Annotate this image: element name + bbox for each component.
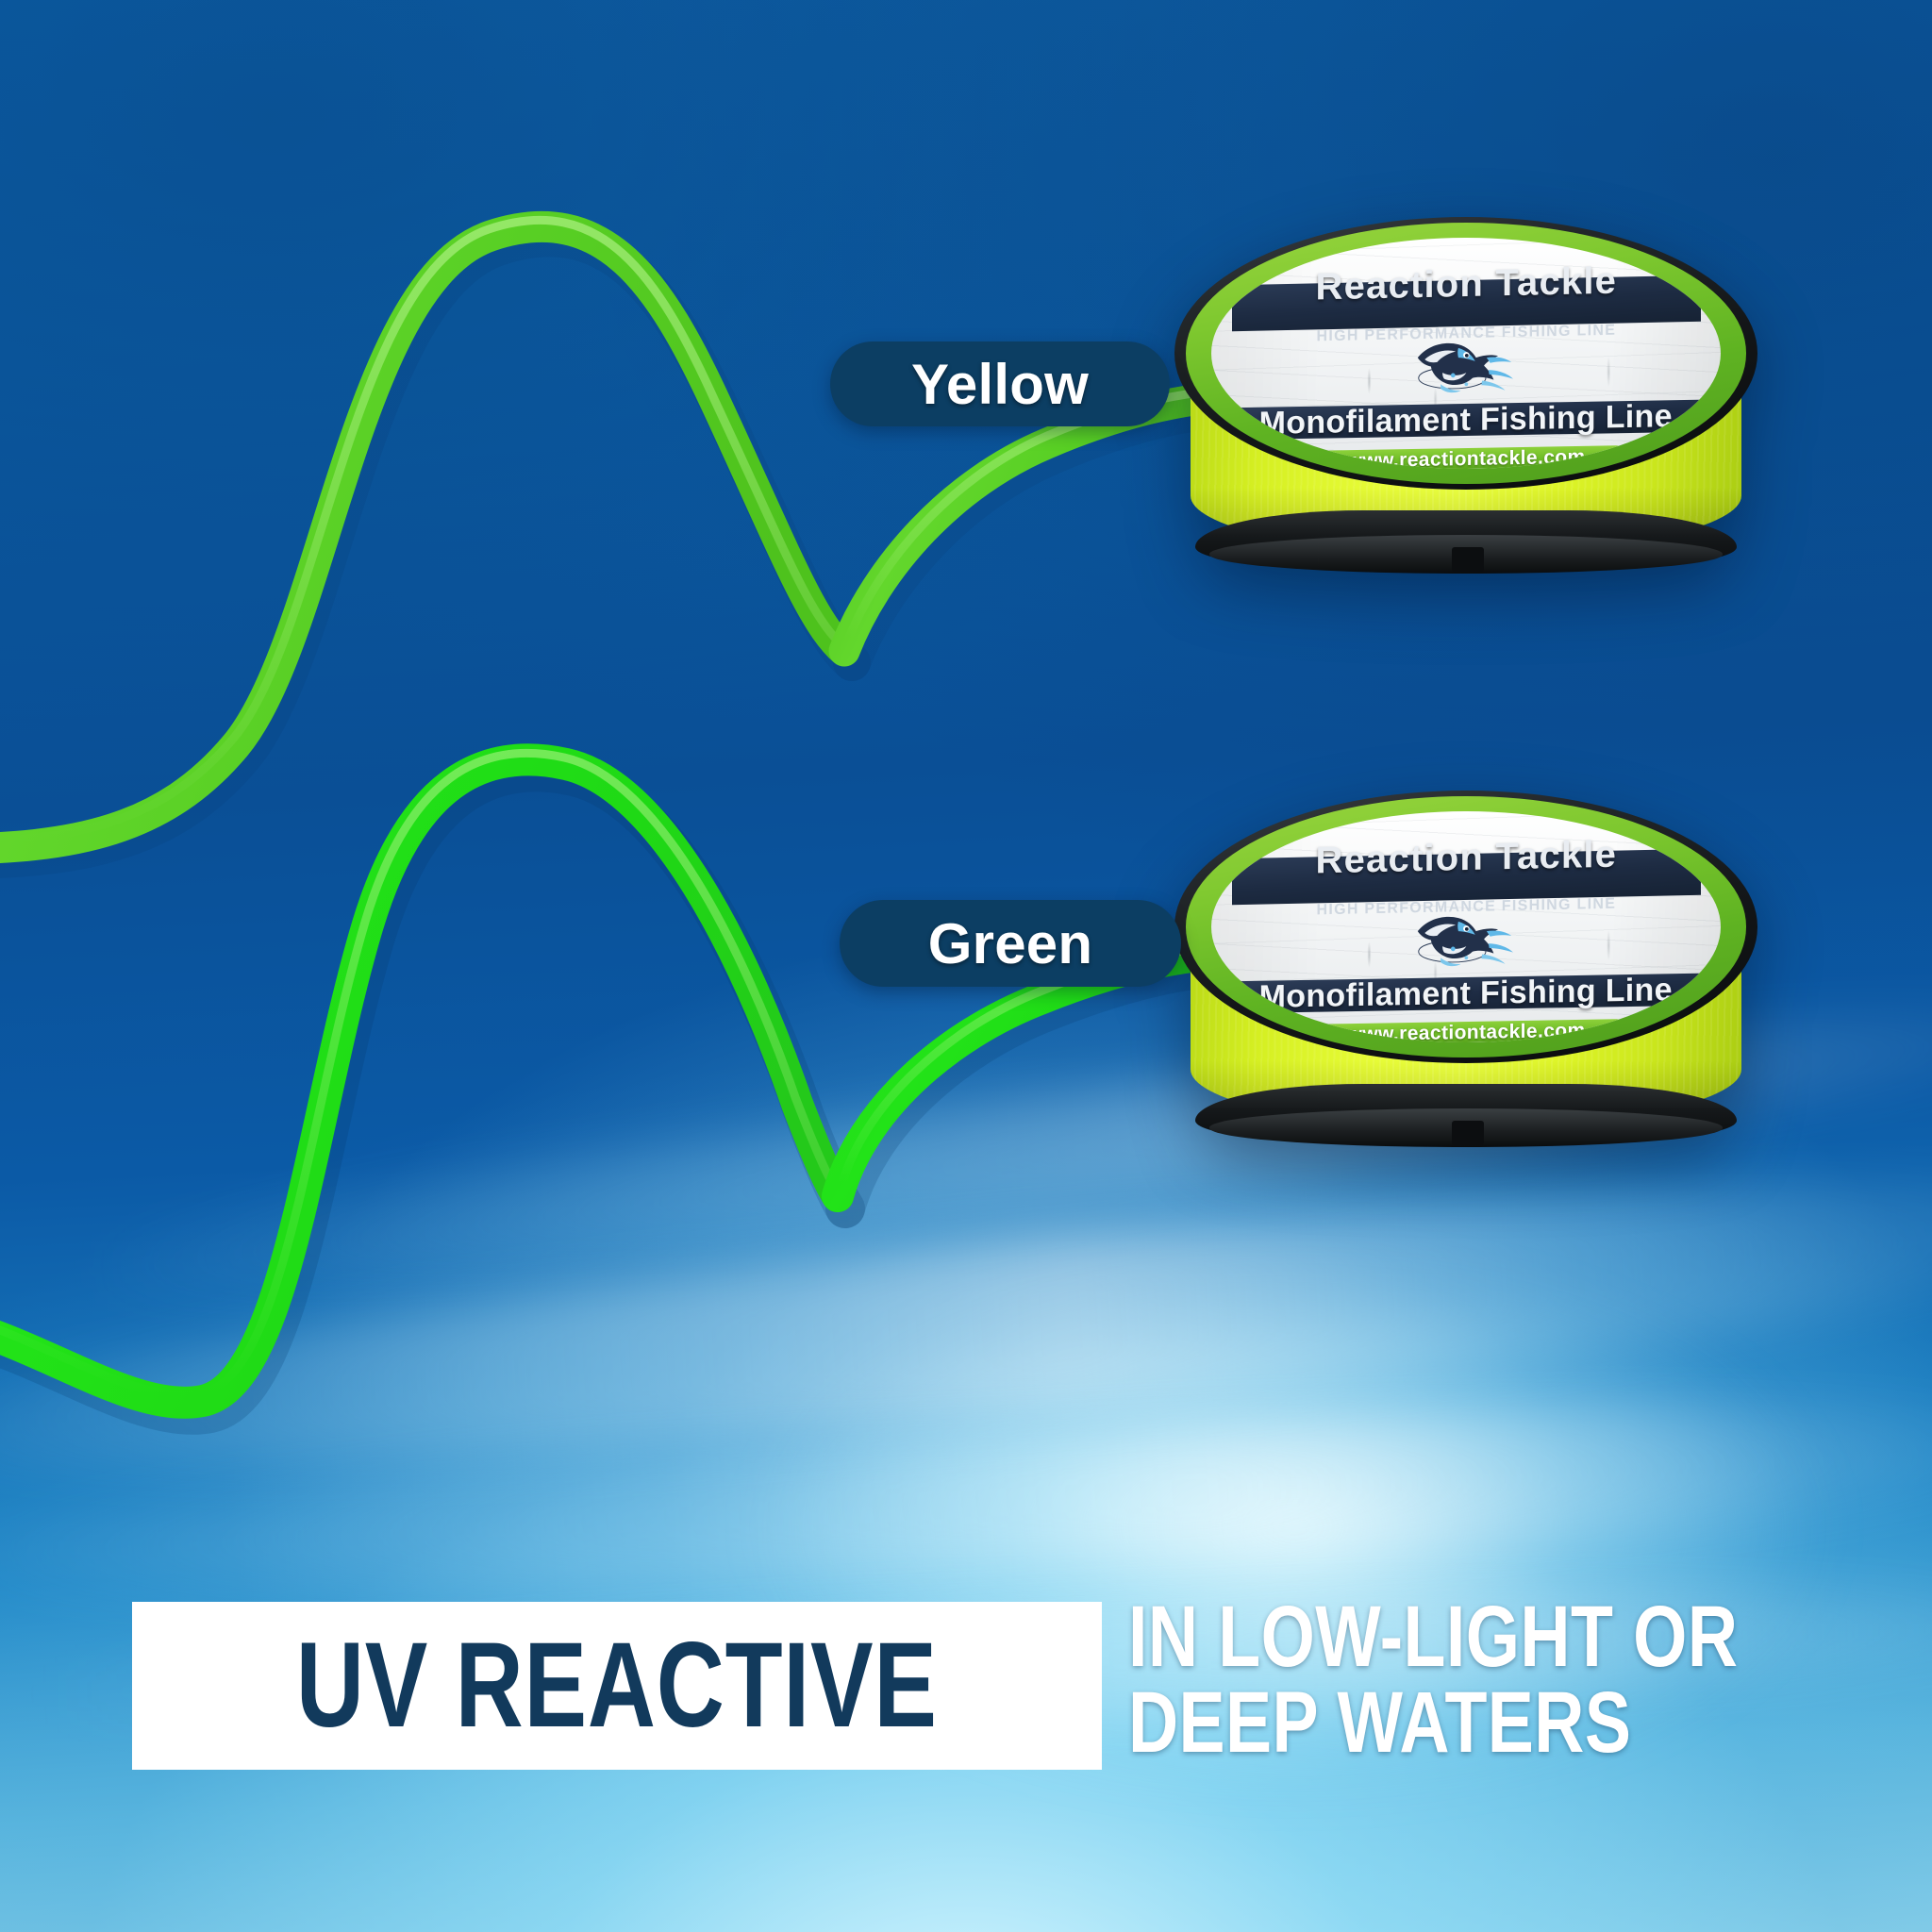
spool-top-flange: Reaction Tackle HIGH PERFORMANCE FISHING…	[1174, 217, 1757, 490]
spool-label: Reaction Tackle HIGH PERFORMANCE FISHING…	[1211, 238, 1721, 470]
spool-flange-green-ring: Reaction Tackle HIGH PERFORMANCE FISHING…	[1186, 223, 1747, 484]
spool-label: Reaction Tackle HIGH PERFORMANCE FISHING…	[1211, 811, 1721, 1043]
product-name: Monofilament Fishing Line	[1259, 974, 1673, 1013]
badge-green-label: Green	[928, 911, 1092, 976]
website-url: www.reactiontackle.com	[1346, 1020, 1585, 1042]
poster-canvas: Reaction Tackle HIGH PERFORMANCE FISHING…	[0, 0, 1932, 1932]
badge-yellow[interactable]: Yellow	[830, 341, 1170, 426]
spool-flange-green-ring: Reaction Tackle HIGH PERFORMANCE FISHING…	[1186, 796, 1747, 1058]
fishing-line-upper	[0, 220, 1234, 860]
spool-top-flange: Reaction Tackle HIGH PERFORMANCE FISHING…	[1174, 791, 1757, 1063]
label-website-pill[interactable]: www.reactiontackle.com	[1306, 1019, 1626, 1042]
product-name: Monofilament Fishing Line	[1259, 400, 1673, 440]
spool-notch	[1452, 547, 1484, 572]
label-website-pill[interactable]: www.reactiontackle.com	[1306, 445, 1626, 469]
headline-subtext: IN LOW-LIGHT OR DEEP WATERS	[1128, 1594, 1874, 1766]
label-brand-bar: Reaction Tackle HIGH PERFORMANCE FISHING…	[1232, 275, 1701, 332]
headline-subtext-line1: IN LOW-LIGHT OR	[1128, 1594, 1724, 1680]
website-url: www.reactiontackle.com	[1346, 446, 1585, 469]
spool-green[interactable]: Reaction Tackle HIGH PERFORMANCE FISHING…	[1174, 791, 1757, 1140]
label-product-bar: Monofilament Fishing Line	[1226, 973, 1705, 1013]
fishing-line-lower	[0, 753, 1234, 1414]
fish-logo-icon	[1308, 906, 1624, 972]
brand-name: Reaction Tackle	[1315, 836, 1617, 880]
brand-name: Reaction Tackle	[1315, 262, 1617, 307]
badge-yellow-label: Yellow	[911, 352, 1089, 417]
label-product-bar: Monofilament Fishing Line	[1226, 399, 1705, 440]
spool-yellow[interactable]: Reaction Tackle HIGH PERFORMANCE FISHING…	[1174, 217, 1757, 566]
spool-notch	[1452, 1121, 1484, 1145]
headline-emphasis-box: UV REACTIVE	[132, 1602, 1102, 1770]
fish-logo-icon	[1308, 332, 1624, 398]
headline-emphasis-text: UV REACTIVE	[296, 1625, 938, 1746]
label-brand-bar: Reaction Tackle HIGH PERFORMANCE FISHING…	[1232, 849, 1701, 906]
headline-subtext-line2: DEEP WATERS	[1128, 1680, 1724, 1766]
badge-green[interactable]: Green	[840, 900, 1181, 987]
